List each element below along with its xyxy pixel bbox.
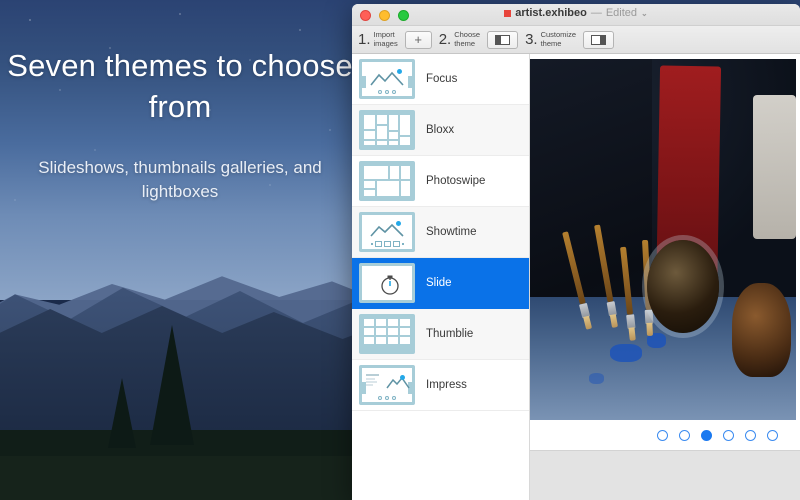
impress-theme-icon xyxy=(359,365,415,405)
promo-text: Seven themes to choose from Slideshows, … xyxy=(0,46,360,205)
customize-theme-button[interactable] xyxy=(583,31,614,49)
photoswipe-theme-icon xyxy=(359,161,415,201)
sidebar-item-label: Showtime xyxy=(426,226,477,238)
sidebar-item-label: Bloxx xyxy=(426,124,454,136)
pagination-dot[interactable] xyxy=(679,430,690,441)
step-number: 3. xyxy=(525,31,538,48)
document-filename: artist.exhibeo xyxy=(515,7,587,19)
background-tree xyxy=(150,325,194,445)
step-label-line2: theme xyxy=(454,39,475,48)
step-label: Customize theme xyxy=(541,31,576,48)
sidebar-item-impress[interactable]: Impress xyxy=(352,360,529,411)
showtime-theme-icon xyxy=(359,212,415,252)
title-separator: — xyxy=(591,7,602,19)
sidebar-item-label: Photoswipe xyxy=(426,175,485,187)
plus-icon: + xyxy=(414,33,422,46)
preview-pagination[interactable] xyxy=(530,420,800,450)
toolbar: 1. Import images + 2. Choose theme xyxy=(352,26,800,54)
preview-bottom-strip xyxy=(530,450,800,500)
pagination-dot[interactable] xyxy=(657,430,668,441)
sidebar-item-slide[interactable]: Slide xyxy=(352,258,529,309)
sidebar-item-label: Impress xyxy=(426,379,467,391)
window-titlebar[interactable]: artist.exhibeo — Edited ⌄ xyxy=(352,4,800,26)
sidebar-panel-icon xyxy=(495,35,510,45)
step-label: Choose theme xyxy=(454,31,480,48)
screenshot-stage: Seven themes to choose from Slideshows, … xyxy=(0,0,800,500)
document-title-group: artist.exhibeo — Edited ⌄ xyxy=(352,7,800,19)
unsaved-indicator-icon xyxy=(504,10,511,17)
sidebar-item-bloxx[interactable]: Bloxx xyxy=(352,105,529,156)
sidebar-item-photoswipe[interactable]: Photoswipe xyxy=(352,156,529,207)
toolbar-step-choose-theme: 2. Choose theme xyxy=(439,31,480,48)
step-number: 1. xyxy=(358,31,371,48)
promo-headline: Seven themes to choose from xyxy=(0,46,360,128)
preview-photo[interactable] xyxy=(530,59,796,420)
toolbar-step-import: 1. Import images xyxy=(358,31,398,48)
background-forest xyxy=(0,456,410,500)
pagination-dot[interactable] xyxy=(767,430,778,441)
step-number: 2. xyxy=(439,31,452,48)
bloxx-theme-icon xyxy=(359,110,415,150)
pagination-dot[interactable] xyxy=(745,430,756,441)
sidebar-item-label: Slide xyxy=(426,277,452,289)
choose-theme-button[interactable] xyxy=(487,31,518,49)
thumblie-theme-icon xyxy=(359,314,415,354)
step-label-line2: theme xyxy=(541,39,562,48)
sidebar-item-label: Focus xyxy=(426,73,457,85)
theme-sidebar[interactable]: Focus xyxy=(352,54,530,500)
chevron-down-icon[interactable]: ⌄ xyxy=(641,9,648,18)
toolbar-step-customize-theme: 3. Customize theme xyxy=(525,31,576,48)
inspector-panel-icon xyxy=(591,35,606,45)
app-window: artist.exhibeo — Edited ⌄ 1. Import imag… xyxy=(352,4,800,500)
pagination-dot[interactable] xyxy=(723,430,734,441)
sidebar-item-focus[interactable]: Focus xyxy=(352,54,529,105)
background-tree xyxy=(108,378,136,448)
document-edited-status: Edited xyxy=(606,7,637,19)
pagination-dot-active[interactable] xyxy=(701,430,712,441)
sidebar-item-thumblie[interactable]: Thumblie xyxy=(352,309,529,360)
focus-theme-icon xyxy=(359,59,415,99)
promo-subtitle: Slideshows, thumbnails galleries, and li… xyxy=(0,156,360,205)
slide-theme-icon xyxy=(359,263,415,303)
step-label: Import images xyxy=(374,31,398,48)
sidebar-item-label: Thumblie xyxy=(426,328,473,340)
add-images-button[interactable]: + xyxy=(405,31,432,49)
sidebar-item-showtime[interactable]: Showtime xyxy=(352,207,529,258)
step-label-line2: images xyxy=(374,39,398,48)
window-body: Focus xyxy=(352,54,800,500)
preview-pane xyxy=(530,54,800,500)
